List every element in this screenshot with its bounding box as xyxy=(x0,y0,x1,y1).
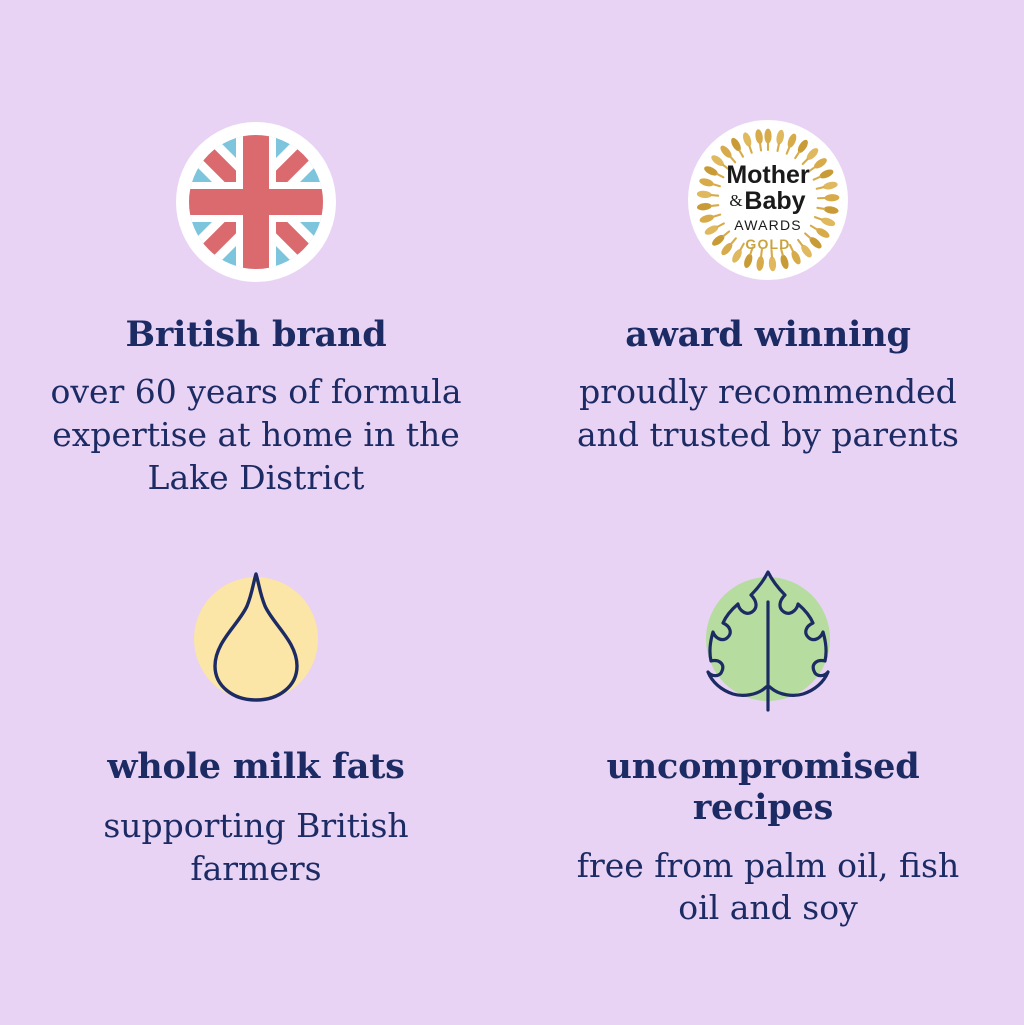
leaf-icon xyxy=(693,562,843,716)
badge-ampersand: & xyxy=(729,191,742,210)
badge-line-awards: AWARDS xyxy=(734,217,802,233)
mother-and-baby-awards-gold-badge-icon: Mother & Baby AWARDS GOLD xyxy=(688,120,848,284)
feature-grid: British brand over 60 years of formula e… xyxy=(0,0,1024,1025)
milk-droplet-icon xyxy=(181,562,331,716)
feature-card-award-winning: Mother & Baby AWARDS GOLD award winning … xyxy=(512,0,1024,510)
feature-card-whole-milk-fats: whole milk fats supporting British farme… xyxy=(0,510,512,1025)
feature-text-whole-milk-fats: whole milk fats supporting British farme… xyxy=(56,716,456,891)
feature-benefits-graphic: British brand over 60 years of formula e… xyxy=(0,0,1024,1025)
feature-card-uncompromised-recipes: uncompromised recipes free from palm oil… xyxy=(512,510,1024,1025)
feature-heading: British brand xyxy=(36,314,476,355)
feature-body: proudly recommended and trusted by paren… xyxy=(548,371,988,457)
feature-body: over 60 years of formula expertise at ho… xyxy=(36,371,476,500)
feature-text-uncompromised-recipes: uncompromised recipes free from palm oil… xyxy=(553,716,983,930)
badge-line-baby: Baby xyxy=(744,187,805,215)
union-jack-roundel-icon xyxy=(176,122,336,286)
feature-card-british-brand: British brand over 60 years of formula e… xyxy=(0,0,512,510)
badge-line-mother: Mother xyxy=(726,161,810,189)
feature-body: supporting British farmers xyxy=(56,805,456,891)
feature-text-award-winning: award winning proudly recommended and tr… xyxy=(548,284,988,457)
badge-line-gold: GOLD xyxy=(745,236,790,252)
feature-heading: whole milk fats xyxy=(56,746,456,787)
feature-heading: award winning xyxy=(548,314,988,355)
feature-text-british-brand: British brand over 60 years of formula e… xyxy=(36,286,476,500)
feature-heading: uncompromised recipes xyxy=(553,746,973,829)
feature-body: free from palm oil, fish oil and soy xyxy=(553,845,983,931)
